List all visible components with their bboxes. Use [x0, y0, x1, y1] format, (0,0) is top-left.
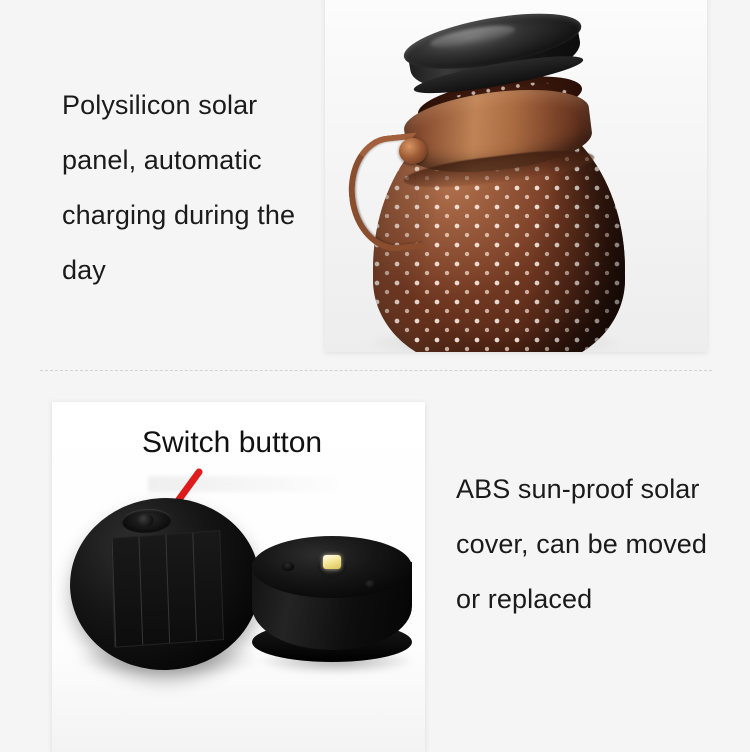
lantern-illustration [325, 0, 707, 352]
product-infographic-page: Polysilicon solar panel, automatic charg… [0, 0, 750, 748]
solar-cover-photo: Switch button [52, 402, 425, 752]
screw-hole-left [282, 562, 294, 571]
led-chip-icon [323, 555, 341, 569]
disc-top-face [252, 536, 412, 598]
handle-knob [399, 138, 427, 164]
cap-highlight [429, 21, 516, 52]
dashed-divider [40, 370, 712, 371]
led-underside-disc [252, 536, 412, 686]
lantern-photo [325, 0, 707, 352]
feature-caption-solar-panel: Polysilicon solar panel, automatic charg… [62, 78, 312, 298]
screw-hole-right [364, 580, 376, 589]
switch-button-annotation-label: Switch button [142, 426, 322, 460]
feature-caption-abs-cover: ABS sun-proof solar cover, can be moved … [456, 462, 728, 627]
panel-cell-lines [112, 531, 224, 647]
polysilicon-solar-panel [110, 530, 224, 648]
